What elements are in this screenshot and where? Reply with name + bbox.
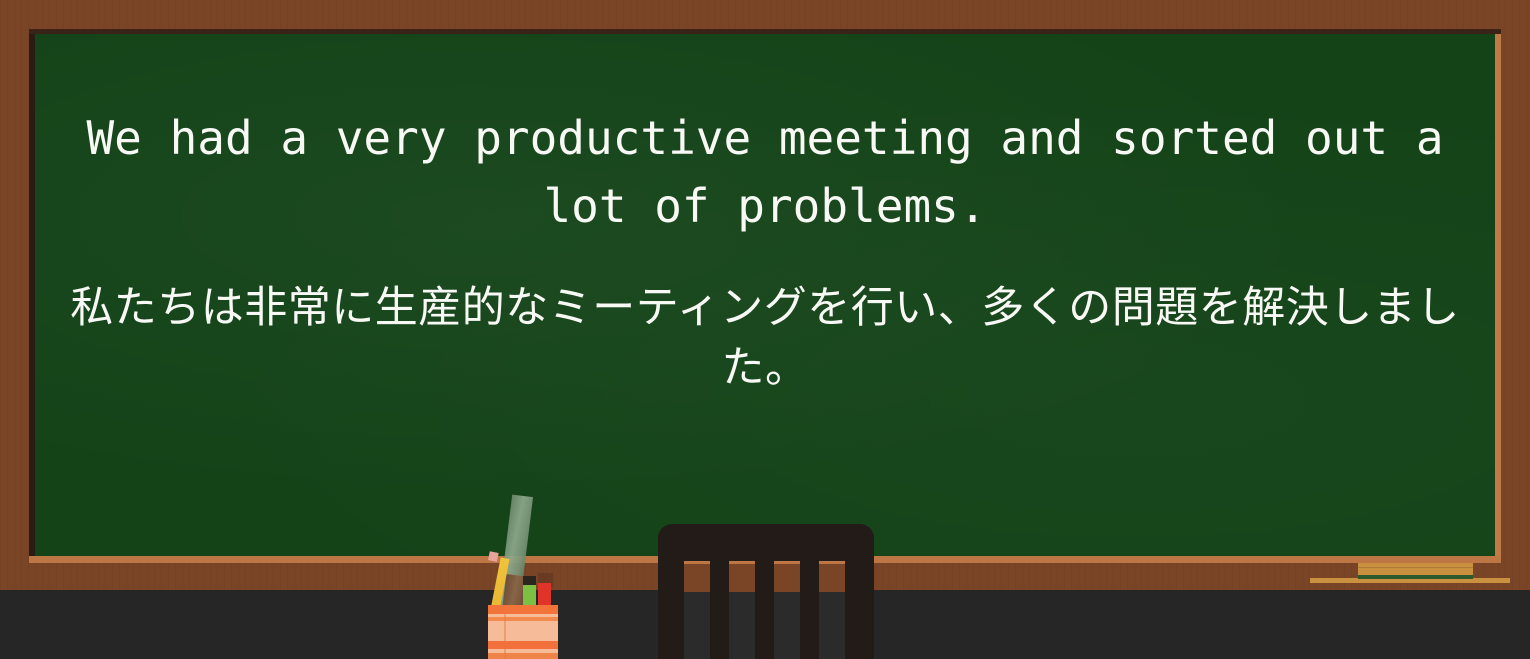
cup-stripe: [488, 653, 558, 659]
text-spacer: [42, 240, 1488, 278]
chair-slat-gap: [684, 561, 710, 659]
japanese-sentence: 私たちは非常に生産的なミーティングを行い、多くの問題を解決しました。: [42, 278, 1488, 398]
eraser-felt: [1358, 575, 1473, 579]
english-sentence: We had a very productive meeting and sor…: [42, 104, 1488, 240]
chair: [658, 524, 874, 659]
chair-gap-wood: [729, 561, 755, 592]
cup-rim: [488, 605, 558, 614]
chair-gap-wood: [819, 561, 845, 592]
chair-slat-gap: [729, 561, 755, 659]
cup-stripe: [488, 617, 558, 621]
chalk-text-block: We had a very productive meeting and sor…: [42, 34, 1488, 534]
chair-gap-wood: [684, 561, 710, 592]
board-inner-shadow-left: [29, 29, 35, 556]
board-edge-highlight-right: [1495, 34, 1501, 556]
chalkboard-scene: We had a very productive meeting and sor…: [0, 0, 1530, 659]
eraser-seam: [1358, 567, 1473, 568]
cup-stripe: [488, 641, 558, 649]
pencil-cup-group: [476, 495, 576, 659]
chair-slat-gap: [819, 561, 845, 659]
pencil-eraser-tip: [488, 551, 499, 562]
cup-seam: [504, 614, 506, 659]
chalkboard-eraser: [1358, 563, 1473, 579]
chair-slat-gap: [774, 561, 800, 659]
chair-gap-wood: [774, 561, 800, 592]
cup-body: [488, 605, 558, 659]
